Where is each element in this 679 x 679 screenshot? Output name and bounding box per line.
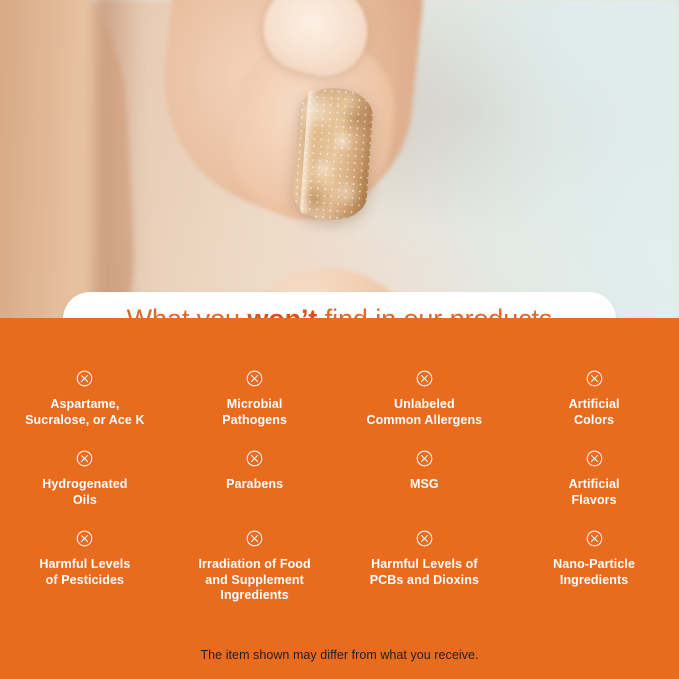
- left-finger-shadow: [96, 0, 142, 318]
- excluded-item-label: Microbial Pathogens: [222, 397, 287, 428]
- circle-x-icon: [76, 530, 93, 547]
- excluded-item-label: Nano-Particle Ingredients: [553, 557, 635, 588]
- excluded-item-label: Unlabeled Common Allergens: [367, 397, 483, 428]
- excluded-item: Harmful Levels of Pesticides: [0, 530, 170, 604]
- excluded-ingredients-panel: Aspartame, Sucralose, or Ace KMicrobial …: [0, 318, 679, 679]
- disclaimer-note: The item shown may differ from what you …: [0, 648, 679, 662]
- excluded-item: Aspartame, Sucralose, or Ace K: [0, 370, 170, 428]
- excluded-item: Artificial Colors: [509, 370, 679, 428]
- excluded-item-label: Parabens: [226, 477, 283, 493]
- circle-x-icon: [76, 450, 93, 467]
- excluded-item-label: Artificial Colors: [569, 397, 620, 428]
- circle-x-icon: [586, 370, 603, 387]
- excluded-item-label: Aspartame, Sucralose, or Ace K: [25, 397, 145, 428]
- circle-x-icon: [246, 370, 263, 387]
- circle-x-icon: [246, 450, 263, 467]
- excluded-item: Nano-Particle Ingredients: [509, 530, 679, 604]
- excluded-item-label: Irradiation of Food and Supplement Ingre…: [198, 557, 310, 604]
- excluded-item-label: Artificial Flavors: [569, 477, 620, 508]
- circle-x-icon: [416, 370, 433, 387]
- excluded-item: Unlabeled Common Allergens: [340, 370, 510, 428]
- excluded-item: Artificial Flavors: [509, 450, 679, 508]
- excluded-item-label: Harmful Levels of Pesticides: [39, 557, 130, 588]
- excluded-item: Parabens: [170, 450, 340, 508]
- excluded-item-label: MSG: [410, 477, 439, 493]
- excluded-item: Microbial Pathogens: [170, 370, 340, 428]
- excluded-ingredients-grid: Aspartame, Sucralose, or Ace KMicrobial …: [0, 370, 679, 604]
- product-infographic: What you won’t find in our products Aspa…: [0, 0, 679, 679]
- excluded-item: Hydrogenated Oils: [0, 450, 170, 508]
- circle-x-icon: [246, 530, 263, 547]
- circle-x-icon: [586, 450, 603, 467]
- circle-x-icon: [76, 370, 93, 387]
- excluded-item: Harmful Levels of PCBs and Dioxins: [340, 530, 510, 604]
- excluded-item: Irradiation of Food and Supplement Ingre…: [170, 530, 340, 604]
- excluded-item-label: Hydrogenated Oils: [42, 477, 127, 508]
- circle-x-icon: [416, 450, 433, 467]
- excluded-item-label: Harmful Levels of PCBs and Dioxins: [370, 557, 479, 588]
- tablet-speckles: [291, 86, 374, 223]
- circle-x-icon: [416, 530, 433, 547]
- circle-x-icon: [586, 530, 603, 547]
- supplement-tablet: [291, 86, 374, 223]
- excluded-item: MSG: [340, 450, 510, 508]
- hero-photo: [0, 0, 679, 318]
